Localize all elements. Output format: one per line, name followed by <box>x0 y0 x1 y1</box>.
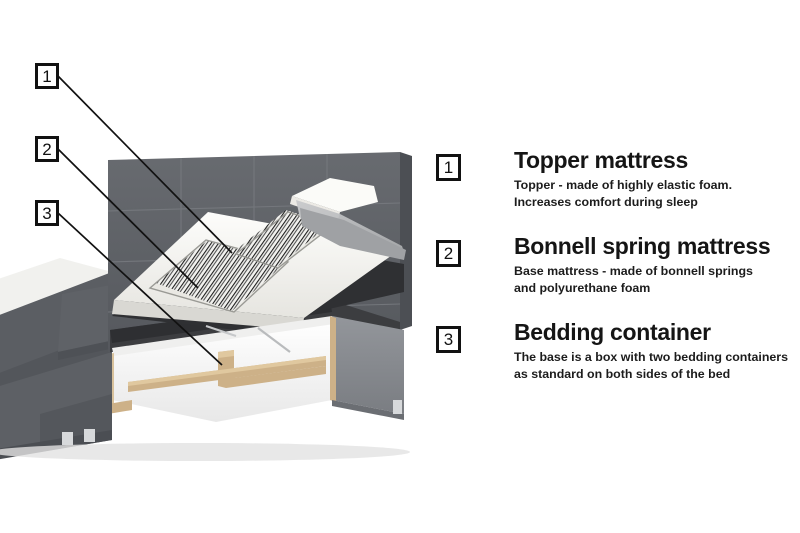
legend-item-bedding-container: 3 Bedding container The base is a box wi… <box>436 320 796 382</box>
legend-number-2-label: 2 <box>444 245 453 262</box>
legend-number-1: 1 <box>436 154 461 181</box>
floor-shadow <box>0 443 410 461</box>
legend-title-1: Topper mattress <box>514 148 732 172</box>
legend-desc-3-line1: The base is a box with two bedding conta… <box>514 349 788 366</box>
legend-number-3-label: 3 <box>444 331 453 348</box>
legend-text-3: Bedding container The base is a box with… <box>514 320 788 382</box>
callout-number-3: 3 <box>35 200 59 226</box>
legend-desc-1-line1: Topper - made of highly elastic foam. <box>514 177 732 194</box>
diagram-page: 1 2 3 1 Topper mattress Topper - made of… <box>0 0 800 533</box>
legend-title-2: Bonnell spring mattress <box>514 234 770 258</box>
legend-text-1: Topper mattress Topper - made of highly … <box>514 148 732 210</box>
legend-number-1-label: 1 <box>444 159 453 176</box>
callout-number-1-label: 1 <box>42 68 51 85</box>
legend-number-2: 2 <box>436 240 461 267</box>
legend-desc-2-line1: Base mattress - made of bonnell springs <box>514 263 770 280</box>
legend-item-topper-mattress: 1 Topper mattress Topper - made of highl… <box>436 148 796 210</box>
legend-desc-1-line2: Increases comfort during sleep <box>514 194 732 211</box>
legend-number-3: 3 <box>436 326 461 353</box>
callout-number-2-label: 2 <box>42 141 51 158</box>
bed-illustration <box>0 0 440 500</box>
legend-desc-2-line2: and polyurethane foam <box>514 280 770 297</box>
legend-desc-3-line2: as standard on both sides of the bed <box>514 366 788 383</box>
legend-title-3: Bedding container <box>514 320 788 344</box>
legend-desc-2: Base mattress - made of bonnell springs … <box>514 263 770 296</box>
legend-desc-1: Topper - made of highly elastic foam. In… <box>514 177 732 210</box>
callout-number-2: 2 <box>35 136 59 162</box>
callout-number-3-label: 3 <box>42 205 51 222</box>
legend: 1 Topper mattress Topper - made of highl… <box>436 148 796 406</box>
callout-number-1: 1 <box>35 63 59 89</box>
legend-item-bonnell-spring-mattress: 2 Bonnell spring mattress Base mattress … <box>436 234 796 296</box>
legend-desc-3: The base is a box with two bedding conta… <box>514 349 788 382</box>
legend-text-2: Bonnell spring mattress Base mattress - … <box>514 234 770 296</box>
